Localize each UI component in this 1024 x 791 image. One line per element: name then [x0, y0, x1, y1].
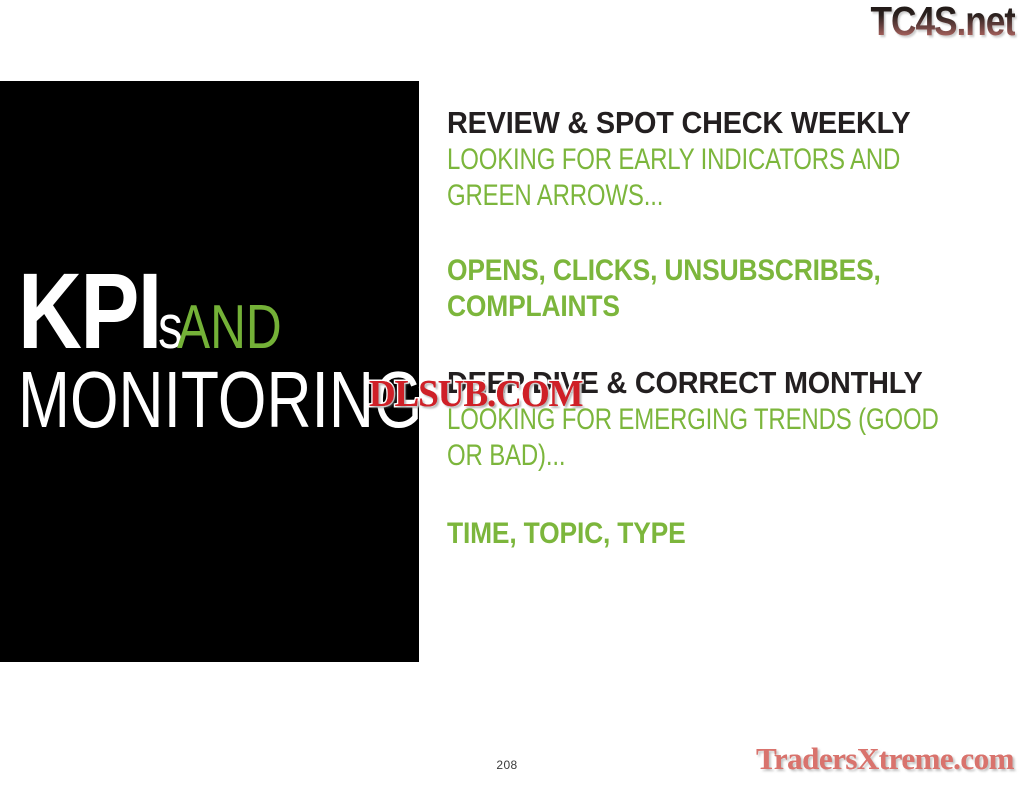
dlsub-watermark-outline: DLSUB.COM — [369, 372, 582, 416]
block-2-body: OPENS, CLICKS, UNSUBSCRIBES, COMPLAINTS — [447, 253, 969, 325]
content-block-1: REVIEW & SPOT CHECK WEEKLY LOOKING FOR E… — [447, 105, 967, 214]
slide-canvas: TC4S.net KPIs AND MONITORING REVIEW & SP… — [0, 0, 1024, 791]
tc4s-logo: TC4S.net — [870, 1, 1015, 42]
tradersxtreme-logo-outline: TradersXtreme.com — [756, 741, 1014, 777]
title-kpi-text: KPI — [18, 261, 161, 360]
title-monitoring-text: MONITORING — [18, 354, 422, 446]
block-spacer-1 — [447, 214, 967, 253]
block-4-body: TIME, TOPIC, TYPE — [447, 516, 969, 552]
content-block-4: TIME, TOPIC, TYPE — [447, 516, 967, 552]
page-number-text: 208 — [496, 758, 517, 772]
slide-title: KPIs AND MONITORING — [18, 261, 418, 446]
block-1-body: LOOKING FOR EARLY INDICATORS AND GREEN A… — [447, 142, 967, 215]
title-line-two: MONITORING — [18, 354, 418, 446]
content-block-2: OPENS, CLICKS, UNSUBSCRIBES, COMPLAINTS — [447, 253, 967, 325]
title-panel: KPIs AND MONITORING — [0, 81, 419, 662]
block-spacer-2 — [447, 325, 967, 365]
block-1-heading: REVIEW & SPOT CHECK WEEKLY — [447, 105, 931, 142]
content-column: REVIEW & SPOT CHECK WEEKLY LOOKING FOR E… — [447, 105, 967, 552]
title-conjunction-text: AND — [177, 299, 282, 356]
title-line-one: KPIs AND — [18, 261, 418, 360]
block-spacer-3 — [447, 474, 967, 516]
